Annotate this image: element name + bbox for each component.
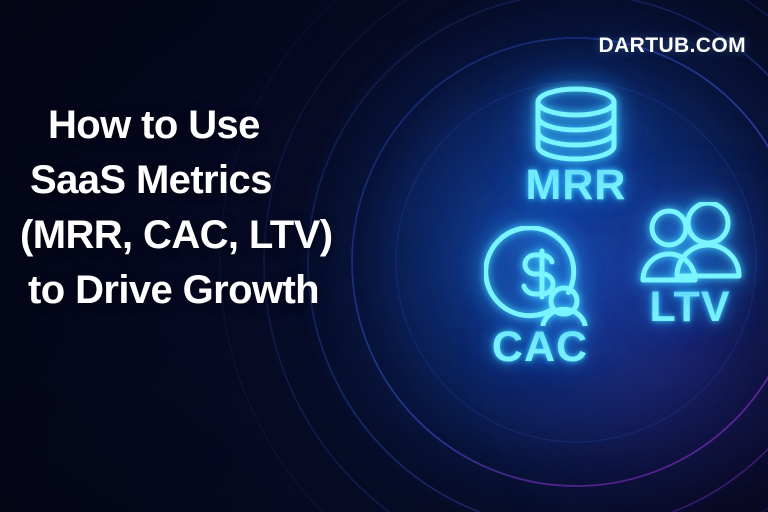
page-title-line-3: (MRR, CAC, LTV): [18, 208, 418, 263]
social-card-canvas: DARTUB.COM How to Use SaaS Metrics (MRR,…: [0, 0, 768, 512]
metric-mrr: MRR: [466, 84, 686, 207]
users-group-icon: [636, 202, 744, 286]
metric-ltv-label: LTV: [600, 286, 768, 329]
site-logo-text: DARTUB.COM: [599, 34, 746, 58]
dollar-circle-user-icon: [484, 226, 596, 326]
metric-ltv: LTV: [600, 202, 768, 329]
page-title: How to Use SaaS Metrics (MRR, CAC, LTV) …: [18, 98, 418, 318]
page-title-line-4: to Drive Growth: [18, 263, 418, 318]
page-title-line-1: How to Use: [18, 98, 418, 153]
database-icon: [528, 84, 624, 164]
metric-mrr-label: MRR: [466, 164, 686, 207]
page-title-line-2: SaaS Metrics: [18, 153, 418, 208]
metric-cac-label: CAC: [440, 326, 640, 369]
